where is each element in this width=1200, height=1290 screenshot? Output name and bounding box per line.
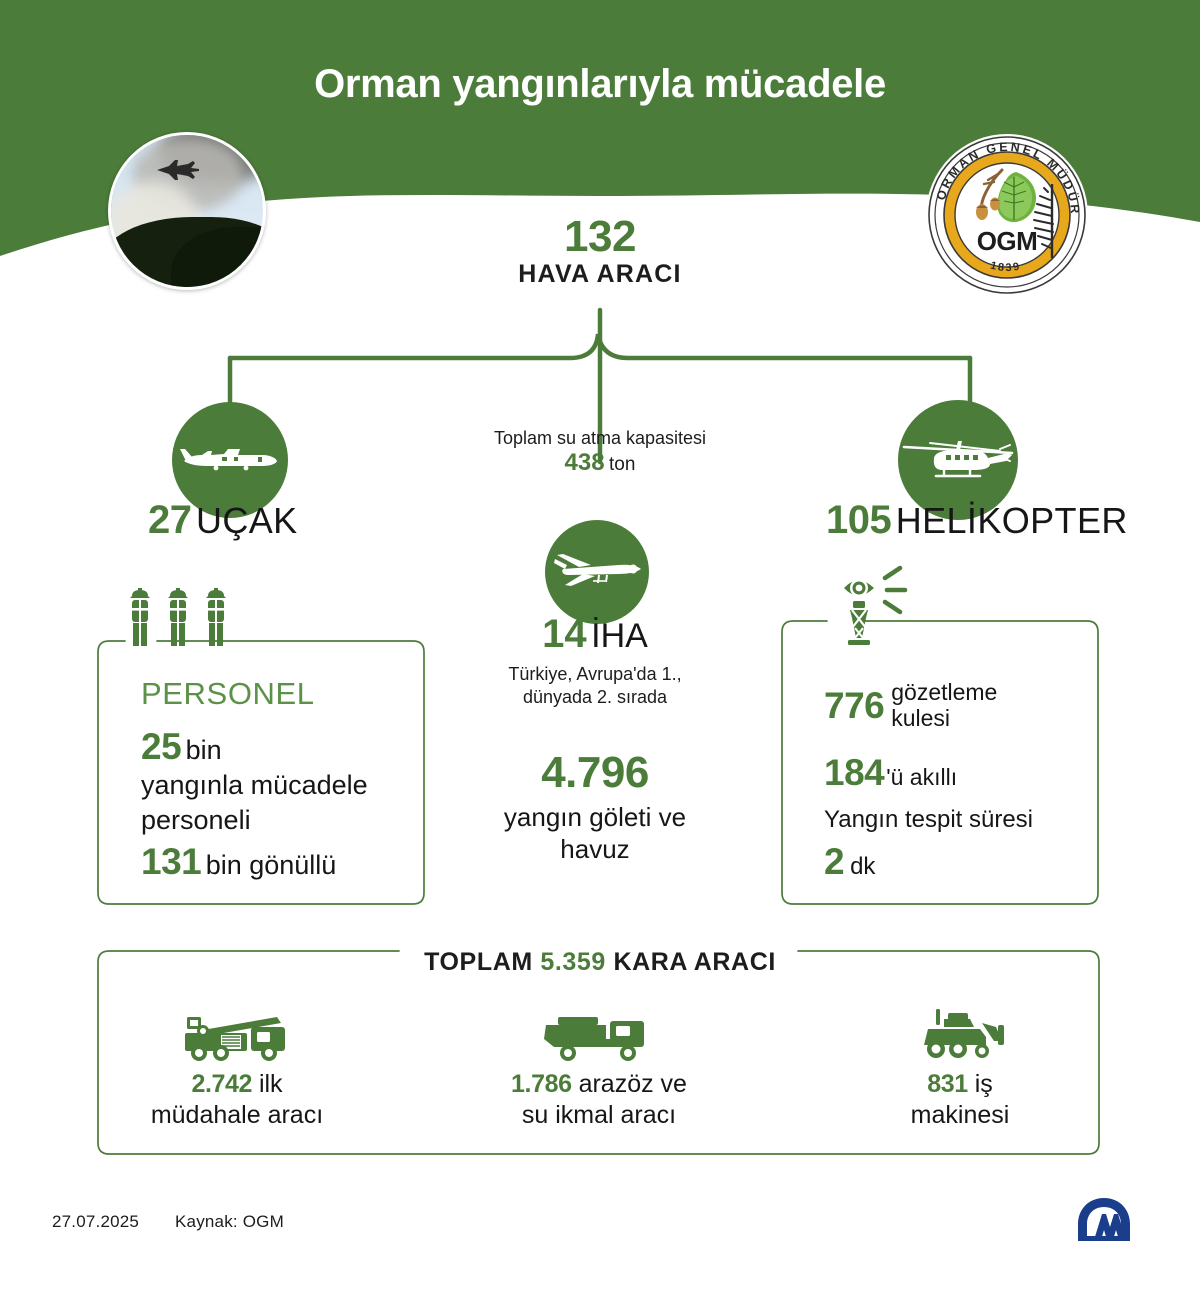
drone-icon: [549, 547, 645, 597]
capacity-value: 438: [565, 449, 605, 476]
bulldozer-text-2: makinesi: [810, 1100, 1110, 1131]
tower-count: 776: [824, 685, 884, 727]
smart-tower-label: 'ü akıllı: [886, 765, 957, 791]
tower-label-line1: gözetleme: [891, 679, 997, 705]
water-tanker-text-1: arazöz ve: [579, 1070, 687, 1098]
volunteer-count: 131: [141, 841, 201, 882]
pond-count: 4.796: [400, 748, 790, 798]
smart-tower-count: 184: [824, 752, 884, 794]
vehicle-item-bulldozer: 831 iş makinesi: [810, 1005, 1110, 1132]
pond-label-line2: havuz: [400, 834, 790, 866]
fire-truck-text-2: müdahale aracı: [87, 1100, 387, 1131]
personnel-desc-line1: yangınla mücadele: [141, 768, 368, 803]
capacity-unit: ton: [609, 454, 635, 475]
bulldozer-label: 831 iş makinesi: [810, 1069, 1110, 1132]
detection-time-row: 2 dk: [824, 841, 875, 883]
personnel-description: yangınla mücadele personeli: [141, 768, 368, 837]
fire-truck-count: 2.742: [191, 1070, 252, 1098]
bulldozer-icon-wrap: [810, 1005, 1110, 1063]
drone-label: İHA: [591, 617, 648, 655]
tower-row-1: 776 gözetleme kulesi: [824, 680, 997, 732]
helicopter-count: 105: [826, 498, 891, 542]
water-tanker-text-2: su ikmal aracı: [449, 1100, 749, 1131]
drone-count: 14: [542, 612, 587, 656]
vehicle-item-fire-truck: 2.742 ilk müdahale aracı: [87, 1005, 387, 1132]
fire-truck-icon-wrap: [87, 1005, 387, 1063]
helicopter-caption: 105 HELİKOPTER: [826, 498, 1128, 543]
water-tanker-count: 1.786: [511, 1070, 572, 1098]
airplane-label: UÇAK: [196, 500, 298, 541]
airplane-caption: 27 UÇAK: [148, 498, 298, 543]
ground-title-number: 5.359: [540, 948, 606, 976]
personnel-row-2: 131 bin gönüllü: [141, 841, 336, 883]
watchtower-icon: [828, 562, 926, 646]
drone-subtitle-line2: dünyada 2. sırada: [400, 686, 790, 709]
pond-stat: 4.796 yangın göleti ve havuz: [400, 748, 790, 865]
footer-source: Kaynak: OGM: [175, 1212, 284, 1232]
bulldozer-count: 831: [927, 1070, 968, 1098]
water-capacity: Toplam su atma kapasitesi 438 ton: [390, 428, 810, 477]
personnel-desc-line2: personeli: [141, 803, 368, 838]
airplane-count: 27: [148, 498, 192, 542]
detection-time-value: 2: [824, 841, 844, 883]
tower-row-2: 184 'ü akıllı: [824, 752, 957, 794]
ground-vehicles-title: TOPLAM 5.359 KARA ARACI: [0, 948, 1200, 977]
volunteer-label: bin gönüllü: [206, 850, 337, 880]
page-title: Orman yangınlarıyla mücadele: [0, 62, 1200, 107]
drone-circle: [545, 520, 649, 624]
airplane-icon: [178, 437, 282, 483]
aa-logo: [1072, 1192, 1136, 1252]
personnel-count: 25: [141, 726, 181, 767]
bulldozer-icon: [910, 1005, 1010, 1063]
drone-subtitle: Türkiye, Avrupa'da 1., dünyada 2. sırada: [400, 663, 790, 708]
fire-truck-icon: [177, 1007, 297, 1063]
footer-date: 27.07.2025: [52, 1212, 139, 1232]
water-tanker-icon-wrap: [449, 1005, 749, 1063]
ground-title-suffix: KARA ARACI: [613, 948, 775, 976]
drone-caption: 14 İHA: [400, 612, 790, 657]
vehicle-item-water-tanker: 1.786 arazöz ve su ikmal aracı: [449, 1005, 749, 1132]
water-tanker-label: 1.786 arazöz ve su ikmal aracı: [449, 1069, 749, 1132]
helicopter-label: HELİKOPTER: [896, 500, 1128, 541]
personnel-count-unit: bin: [186, 735, 222, 765]
infographic-page: Orman yangınlarıyla mücadele ORMAN GENEL…: [0, 0, 1200, 1290]
firefighters-icon: [128, 586, 240, 648]
bulldozer-text-1: iş: [975, 1070, 993, 1098]
ground-title-prefix: TOPLAM: [424, 948, 533, 976]
personnel-row-1: 25 bin: [141, 726, 222, 768]
detection-time-unit: dk: [850, 854, 875, 881]
water-tanker-icon: [540, 1009, 658, 1063]
pond-label-line1: yangın göleti ve: [400, 802, 790, 834]
tower-label-line2: kulesi: [891, 705, 950, 731]
helicopter-icon: [900, 431, 1016, 489]
capacity-label: Toplam su atma kapasitesi: [390, 428, 810, 449]
fire-truck-text-1: ilk: [259, 1070, 283, 1098]
drone-subtitle-line1: Türkiye, Avrupa'da 1.,: [400, 663, 790, 686]
detection-time-label: Yangın tespit süresi: [824, 806, 1033, 834]
personnel-title: PERSONEL: [141, 676, 315, 712]
photo-airplane-icon: [155, 157, 201, 183]
fire-truck-label: 2.742 ilk müdahale aracı: [87, 1069, 387, 1132]
